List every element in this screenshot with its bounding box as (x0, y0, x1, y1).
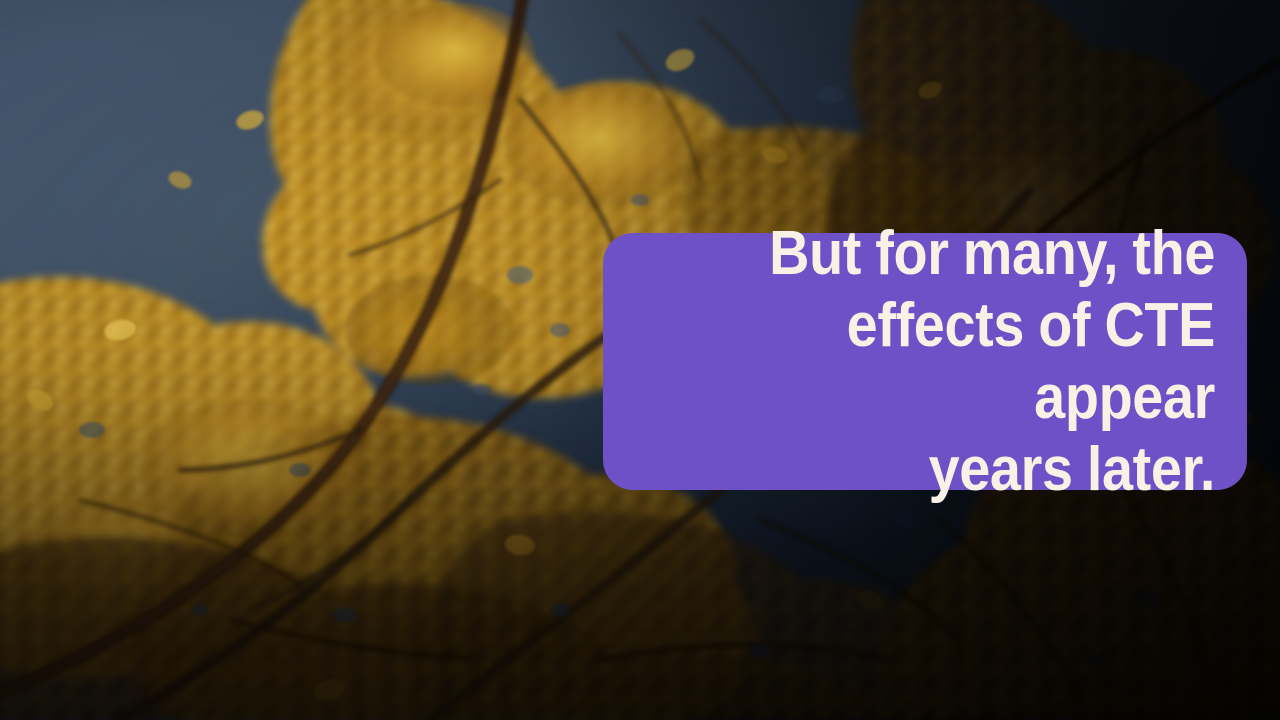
video-player-stage: But for many, the effects of CTE appear … (0, 0, 1280, 720)
caption-card: But for many, the effects of CTE appear … (603, 233, 1247, 490)
caption-text: But for many, the effects of CTE appear … (689, 218, 1215, 506)
